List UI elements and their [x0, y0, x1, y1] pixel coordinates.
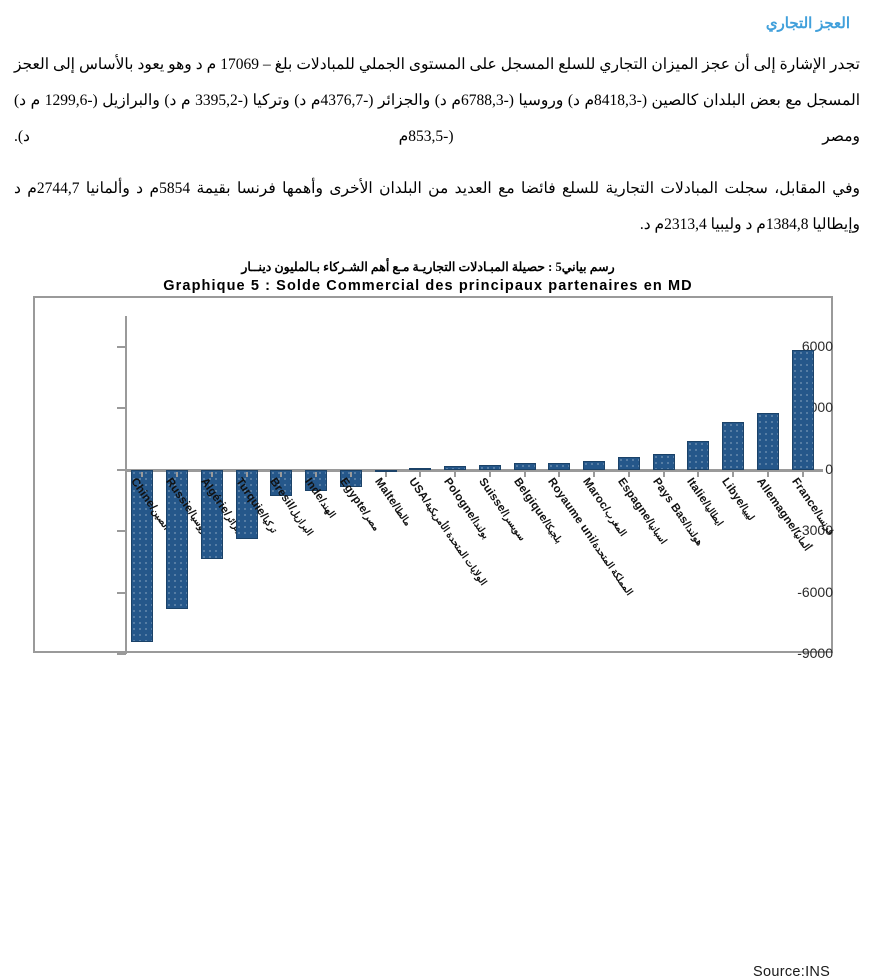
bar-slot: Bresil/البرازيل	[264, 296, 299, 653]
bar-slot: Egypte/مصر	[334, 296, 369, 653]
source-note: Source:INS	[753, 964, 830, 980]
bar-slot: Turquie/تركيا	[229, 296, 264, 653]
bar	[409, 468, 431, 470]
x-axis-category-label: France/فرنسا	[789, 476, 837, 537]
x-axis-tick	[141, 472, 143, 477]
x-axis-tick	[419, 472, 421, 477]
bar-slot: Italie/ايطاليا	[681, 296, 716, 653]
x-axis-tick	[628, 472, 630, 477]
plot-area: -9000-6000-3000030006000 Chine/الصينRuss…	[33, 296, 833, 653]
x-axis-tick	[558, 472, 560, 477]
bar-slot: Suisse/سويسرا	[473, 296, 508, 653]
chart-title-arabic: رسم بياني5 : حصيلة المبـادلات التجاريـة …	[0, 259, 878, 275]
bar	[444, 466, 466, 470]
page-title: العجز التجاري	[14, 14, 850, 33]
bar	[757, 413, 779, 469]
x-axis-tick	[489, 472, 491, 477]
bar	[583, 461, 605, 470]
bar-slot: Maroc/المغرب	[577, 296, 612, 653]
bar	[653, 454, 675, 470]
bar	[687, 441, 709, 469]
bar	[792, 350, 814, 470]
x-axis-tick	[280, 472, 282, 477]
bar-slot: Malte/مالطا	[368, 296, 403, 653]
bar-slot: Russie/روسيا	[160, 296, 195, 653]
x-axis-tick	[663, 472, 665, 477]
x-axis-tick	[385, 472, 387, 477]
x-axis-tick	[593, 472, 595, 477]
bar-slot: Espagne/اسبانيا	[612, 296, 647, 653]
bar-slot: Pologne/بولندا	[438, 296, 473, 653]
x-axis-tick	[246, 472, 248, 477]
x-axis-tick	[454, 472, 456, 477]
paragraph-trade-deficit: تجدر الإشارة إلى أن عجز الميزان التجاري …	[14, 47, 860, 155]
bar	[479, 465, 501, 470]
x-axis-tick	[767, 472, 769, 477]
bar-slot: Pays Bas/هولندا	[646, 296, 681, 653]
x-axis-tick	[524, 472, 526, 477]
bar	[514, 463, 536, 470]
x-axis-tick	[802, 472, 804, 477]
chart-container: رسم بياني5 : حصيلة المبـادلات التجاريـة …	[0, 259, 878, 656]
bar-slot: Libye/ليبيا	[716, 296, 751, 653]
paragraph-trade-surplus: وفي المقابل، سجلت المبادلات التجارية للس…	[14, 171, 860, 243]
x-axis-tick	[732, 472, 734, 477]
x-axis-tick	[211, 472, 213, 477]
x-axis-tick	[697, 472, 699, 477]
chart-title-group: رسم بياني5 : حصيلة المبـادلات التجاريـة …	[0, 259, 878, 294]
x-axis-tick	[315, 472, 317, 477]
chart-title-french: Graphique 5 : Solde Commercial des princ…	[0, 278, 878, 294]
bar-slot: Algérie/الجزائر	[195, 296, 230, 653]
bar	[618, 457, 640, 469]
bar-slot: USA/الولايات المتحدة الأمريكية	[403, 296, 438, 653]
bar-slot: Royaume uni/المملكة المتحدة	[542, 296, 577, 653]
document-text-block: العجز التجاري تجدر الإشارة إلى أن عجز ال…	[0, 0, 878, 243]
plot-region: -9000-6000-3000030006000 Chine/الصينRuss…	[0, 296, 878, 656]
bar-slot: Belgique/بلجيكا	[507, 296, 542, 653]
bar	[722, 422, 744, 469]
y-axis-tick	[117, 653, 126, 655]
bar-slot: France/فرنسا	[785, 296, 820, 653]
bar-slot: Chine/الصين	[125, 296, 160, 653]
bar	[548, 463, 570, 469]
bar-slot: Inde/الهند	[299, 296, 334, 653]
x-axis-tick	[350, 472, 352, 477]
x-axis-tick	[176, 472, 178, 477]
bar-slot: Allemagne/ألمانيا	[751, 296, 786, 653]
